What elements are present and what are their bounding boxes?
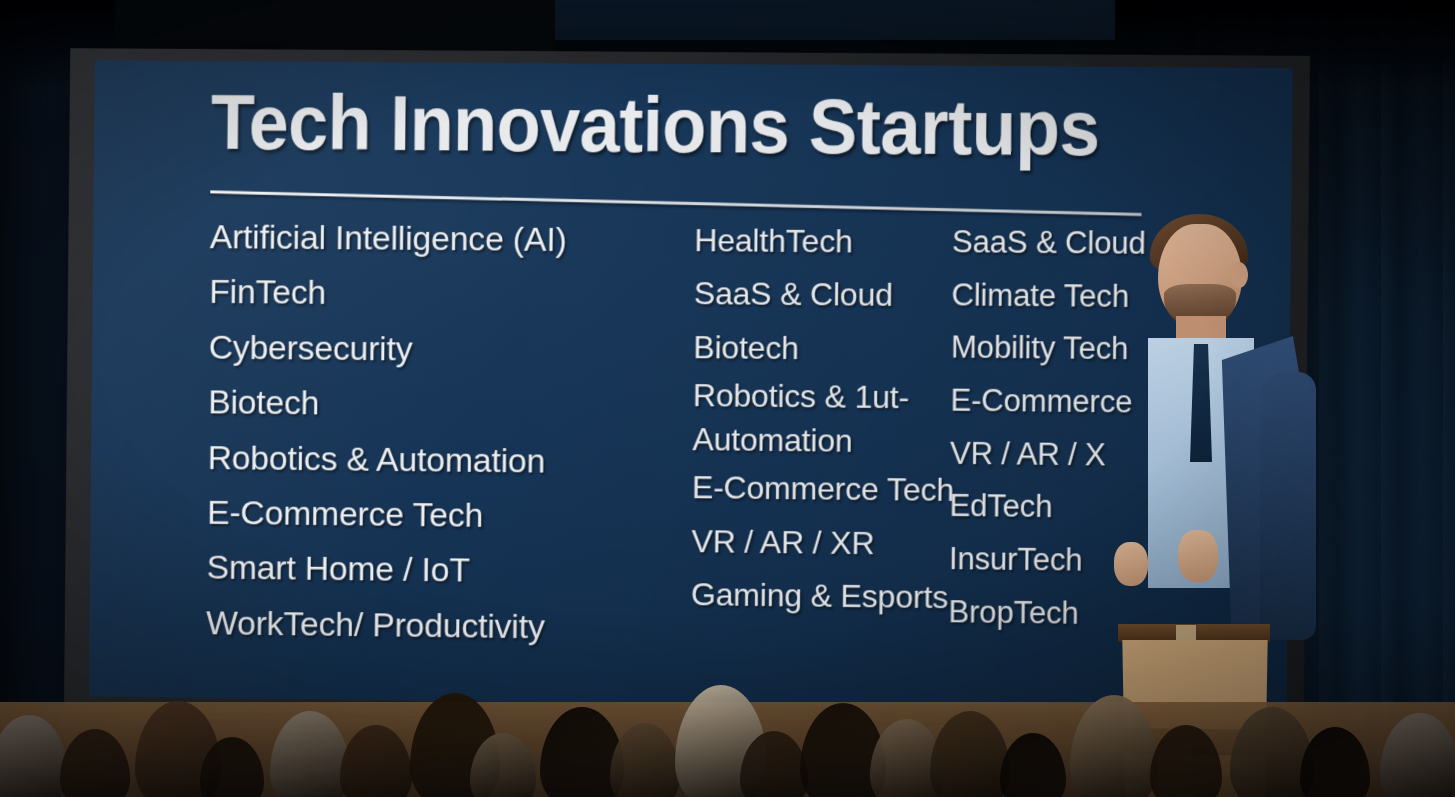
audience-head — [1000, 733, 1066, 797]
slide-title: Tech Innovations Startups — [211, 83, 1161, 170]
list-item: E-Commerce Tech — [692, 461, 958, 517]
list-item: Robotics & 1ut-Automation — [692, 374, 959, 464]
list-item: WorkTech/ Productivity — [206, 596, 674, 657]
presenter-hand-right — [1178, 530, 1218, 582]
list-item: Cybersecurity — [209, 321, 677, 381]
list-item: FinTech — [209, 265, 677, 324]
audience-head — [60, 729, 130, 797]
audience-head — [0, 715, 68, 797]
presenter-arm — [1260, 372, 1316, 640]
list-item: SaaS & Cloud — [694, 268, 960, 324]
presenter-ear — [1230, 262, 1248, 288]
list-item: Artificial Intelligence (AI) — [210, 210, 678, 269]
slide-column-2: HealthTech SaaS & Cloud Biotech Robotics… — [691, 214, 961, 625]
slide-column-1: Artificial Intelligence (AI) FinTech Cyb… — [206, 210, 678, 657]
audience-head — [930, 711, 1010, 797]
list-item: Gaming & Esports — [691, 568, 957, 625]
presentation-scene: Tech Innovations Startups Artificial Int… — [0, 0, 1455, 797]
audience-head — [610, 723, 680, 797]
list-item: Smart Home / IoT — [206, 541, 674, 602]
list-item: VR / AR / XR — [691, 515, 957, 571]
list-item: HealthTech — [694, 214, 960, 270]
presenter-belt-buckle — [1176, 625, 1196, 641]
audience-head — [1380, 713, 1455, 797]
audience-head — [270, 711, 350, 797]
list-item: Robotics & Automation — [207, 431, 675, 491]
audience-head — [340, 725, 412, 797]
audience-head — [1300, 727, 1370, 797]
ceiling-light-panel — [555, 0, 1115, 40]
list-item: Biotech — [208, 376, 676, 436]
presenter-jacket-left — [1096, 336, 1188, 636]
audience-head — [1150, 725, 1222, 797]
audience-head — [1070, 695, 1158, 797]
presenter-hand-left — [1114, 542, 1148, 586]
list-item: E-Commerce Tech — [207, 486, 675, 546]
audience-row — [0, 677, 1455, 797]
list-item: Biotech — [693, 321, 959, 377]
